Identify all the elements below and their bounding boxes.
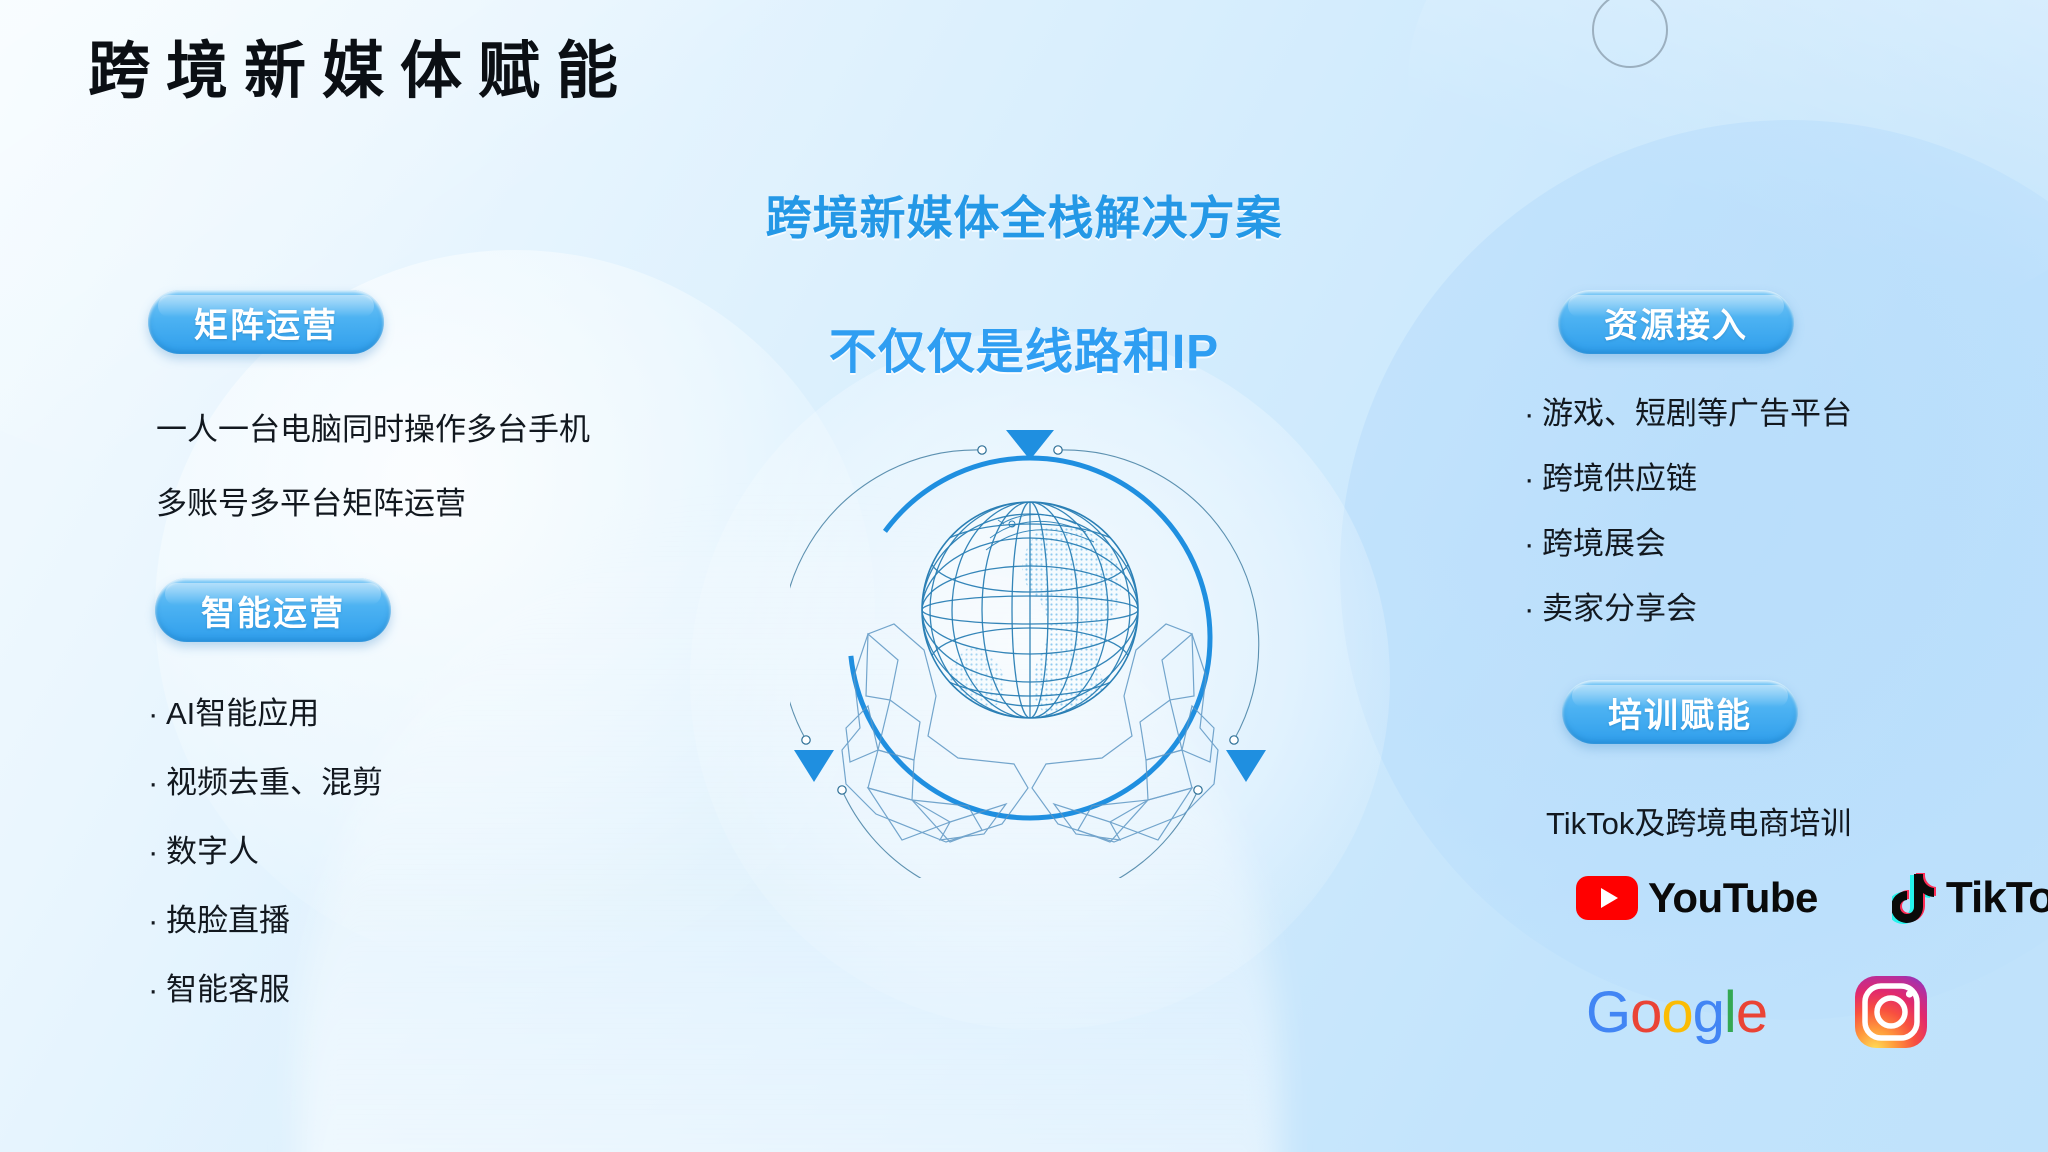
- list-item: ·数字人: [148, 836, 383, 867]
- list-item-label: 卖家分享会: [1542, 591, 1697, 626]
- list-item-label: 数字人: [166, 834, 259, 869]
- bullet-icon: ·: [148, 836, 166, 867]
- right-resource-list: ·游戏、短剧等广告平台 ·跨境供应链 ·跨境展会 ·卖家分享会: [1524, 398, 1852, 624]
- list-item-label: AI智能应用: [166, 696, 319, 731]
- list-item: ·视频去重、混剪: [148, 767, 383, 798]
- decorative-ring-icon: [1592, 0, 1668, 68]
- youtube-logo[interactable]: YouTube: [1576, 874, 1818, 922]
- left-feature-list: ·AI智能应用 ·视频去重、混剪 ·数字人 ·换脸直播 ·智能客服: [148, 698, 383, 1005]
- list-item: ·跨境供应链: [1524, 463, 1852, 494]
- list-item-label: 游戏、短剧等广告平台: [1542, 396, 1852, 431]
- google-logo[interactable]: Google: [1586, 979, 1767, 1046]
- bullet-icon: ·: [148, 698, 166, 729]
- page-title: 跨境新媒体赋能: [88, 38, 634, 106]
- list-item: ·跨境展会: [1524, 528, 1852, 559]
- badge-training-empowerment[interactable]: 培训赋能: [1562, 680, 1798, 744]
- list-item: ·智能客服: [148, 974, 383, 1005]
- tiktok-logo-label: TikTok: [1946, 873, 2048, 923]
- partner-logo-row-1: YouTube TikTok: [1576, 872, 2048, 924]
- list-item: ·卖家分享会: [1524, 593, 1852, 624]
- badge-smart-operations[interactable]: 智能运营: [155, 578, 391, 642]
- bullet-icon: ·: [148, 905, 166, 936]
- tiktok-logo[interactable]: TikTok: [1892, 872, 2048, 924]
- bullet-icon: ·: [1524, 593, 1542, 624]
- slide-canvas: 跨境新媒体赋能 跨境新媒体全栈解决方案 不仅仅是线路和IP 矩阵运营 一人一台电…: [0, 0, 2048, 1152]
- list-item: ·游戏、短剧等广告平台: [1524, 398, 1852, 429]
- list-item-label: 智能客服: [166, 972, 290, 1007]
- list-item: ·AI智能应用: [148, 698, 383, 729]
- list-item-label: 换脸直播: [166, 903, 290, 938]
- center-heading-primary: 跨境新媒体全栈解决方案: [0, 182, 2048, 248]
- partner-logo-row-2: Google: [1586, 974, 1929, 1050]
- list-item-label: 跨境供应链: [1542, 461, 1697, 496]
- globe-in-hands-illustration: [790, 398, 1270, 878]
- left-text-line-1: 一人一台电脑同时操作多台手机: [156, 404, 590, 449]
- tiktok-note-icon: [1892, 872, 1938, 924]
- bullet-icon: ·: [1524, 398, 1542, 429]
- bullet-icon: ·: [1524, 528, 1542, 559]
- youtube-logo-label: YouTube: [1648, 874, 1818, 922]
- background-sheen-top-right: [1408, 0, 2048, 340]
- bullet-icon: ·: [1524, 463, 1542, 494]
- bullet-icon: ·: [148, 974, 166, 1005]
- training-description: TikTok及跨境电商培训: [1546, 798, 1851, 843]
- badge-matrix-operations[interactable]: 矩阵运营: [148, 290, 384, 354]
- badge-resource-access[interactable]: 资源接入: [1558, 290, 1794, 354]
- list-item: ·换脸直播: [148, 905, 383, 936]
- bullet-icon: ·: [148, 767, 166, 798]
- list-item-label: 跨境展会: [1542, 526, 1666, 561]
- instagram-logo[interactable]: [1853, 974, 1929, 1050]
- list-item-label: 视频去重、混剪: [166, 765, 383, 800]
- youtube-play-icon: [1576, 876, 1638, 920]
- left-text-line-2: 多账号多平台矩阵运营: [156, 478, 466, 523]
